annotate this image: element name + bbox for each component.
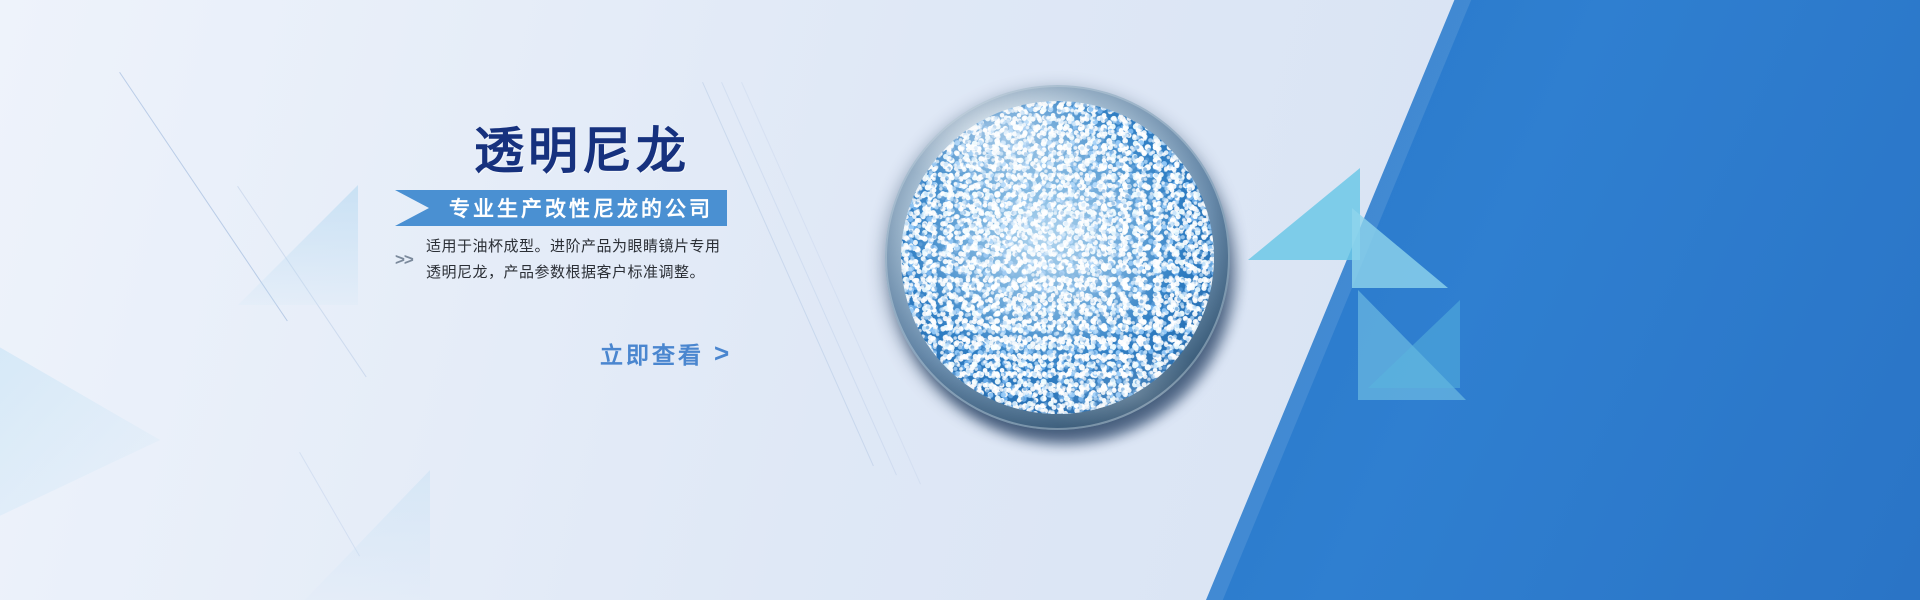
hero-banner: 透明尼龙 专业生产改性尼龙的公司 >> 适用于油杯成型。进阶产品为眼睛镜片专用 … <box>0 0 1920 600</box>
chevron-right-icon: > <box>714 340 729 366</box>
dish-interior <box>901 101 1214 414</box>
double-chevron-icon: >> <box>395 250 413 270</box>
tagline-ribbon: 专业生产改性尼龙的公司 <box>395 190 727 226</box>
product-image-petri-dish <box>885 85 1230 430</box>
tagline-ribbon-label: 专业生产改性尼龙的公司 <box>449 193 715 223</box>
cta-label: 立即查看 <box>600 336 704 370</box>
cta-view-now-button[interactable]: 立即查看 > <box>600 336 729 370</box>
banner-content: 透明尼龙 专业生产改性尼龙的公司 >> 适用于油杯成型。进阶产品为眼睛镜片专用 … <box>0 0 900 600</box>
page-title: 透明尼龙 <box>474 126 690 176</box>
description-line: 透明尼龙，产品参数根据客户标准调整。 <box>426 260 755 286</box>
description-line: 适用于油杯成型。进阶产品为眼睛镜片专用 <box>426 234 755 260</box>
description-lines: 适用于油杯成型。进阶产品为眼睛镜片专用 透明尼龙，产品参数根据客户标准调整。 <box>426 234 755 286</box>
pellet-highlight-mound <box>901 101 1214 414</box>
description-block: >> 适用于油杯成型。进阶产品为眼睛镜片专用 透明尼龙，产品参数根据客户标准调整… <box>395 234 755 286</box>
cyan-triangle-icon <box>1248 168 1360 260</box>
